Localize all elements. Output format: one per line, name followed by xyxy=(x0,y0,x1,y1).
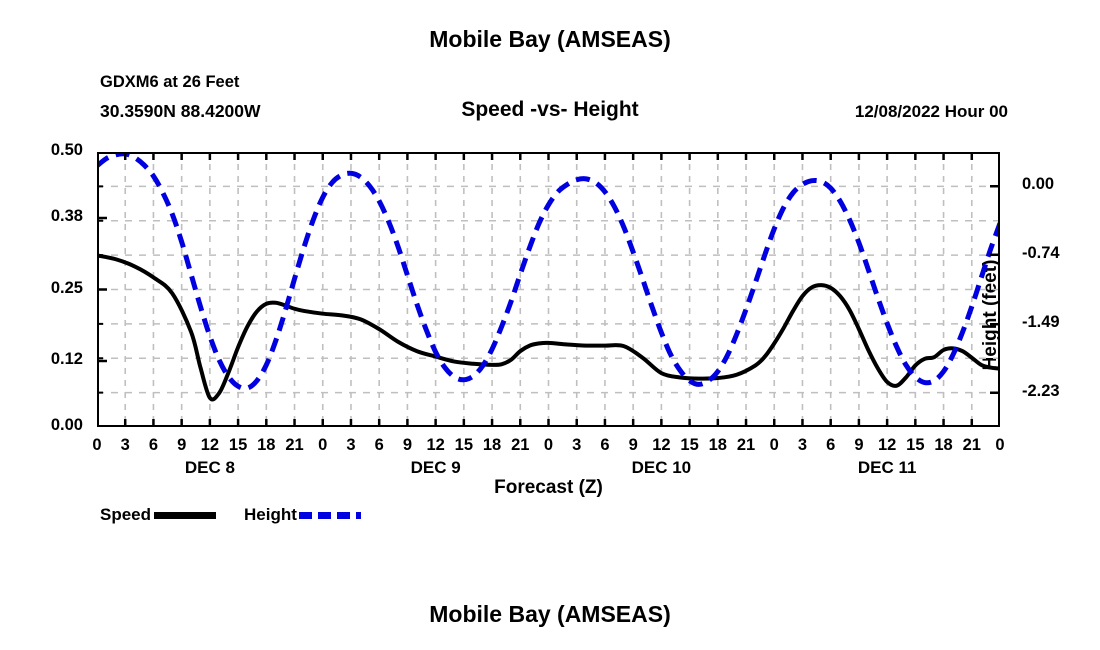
y-axis-left-tick-label: 0.50 xyxy=(51,141,83,160)
y-axis-left-tick-label: 0.12 xyxy=(51,350,83,369)
legend-item-height: Height xyxy=(244,505,361,525)
x-axis-tick-label: 6 xyxy=(138,436,168,455)
legend-label-speed: Speed xyxy=(100,505,151,525)
x-axis-day-label: DEC 9 xyxy=(366,458,506,478)
x-axis-tick-label: 21 xyxy=(731,436,761,455)
x-axis-tick-label: 15 xyxy=(675,436,705,455)
x-axis-tick-label: 18 xyxy=(929,436,959,455)
x-axis-tick-label: 0 xyxy=(985,436,1015,455)
x-axis-tick-label: 21 xyxy=(957,436,987,455)
x-axis-tick-label: 18 xyxy=(477,436,507,455)
x-axis-tick-label: 15 xyxy=(900,436,930,455)
x-axis-tick-label: 12 xyxy=(195,436,225,455)
x-axis-tick-label: 6 xyxy=(590,436,620,455)
x-axis-day-label: DEC 10 xyxy=(591,458,731,478)
x-axis-tick-label: 3 xyxy=(336,436,366,455)
chart-subtitle: Speed -vs- Height xyxy=(300,98,800,122)
x-axis-day-label: DEC 8 xyxy=(140,458,280,478)
legend-label-height: Height xyxy=(244,505,297,525)
y-axis-right-tick-label: 0.00 xyxy=(1022,175,1054,194)
model-run-timestamp: 12/08/2022 Hour 00 xyxy=(855,102,1008,122)
x-axis-tick-label: 12 xyxy=(421,436,451,455)
y-axis-right-tick-label: -0.74 xyxy=(1022,244,1060,263)
chart-title-top: Mobile Bay (AMSEAS) xyxy=(0,26,1100,53)
y-axis-right-tick-label: -1.49 xyxy=(1022,313,1060,332)
x-axis-title: Forecast (Z) xyxy=(97,477,1000,499)
legend-item-speed: Speed xyxy=(100,505,244,525)
x-axis-tick-label: 12 xyxy=(872,436,902,455)
station-info: GDXM6 at 26 Feet xyxy=(100,73,239,92)
gridlines xyxy=(97,152,1000,427)
x-axis-tick-label: 18 xyxy=(251,436,281,455)
x-axis-tick-label: 6 xyxy=(364,436,394,455)
x-axis-tick-label: 3 xyxy=(787,436,817,455)
x-axis-tick-label: 9 xyxy=(844,436,874,455)
y-axis-left-tick-label: 0.38 xyxy=(51,207,83,226)
chart-figure: Mobile Bay (AMSEAS) GDXM6 at 26 Feet 30.… xyxy=(0,0,1100,650)
y-axis-left-tick-label: 0.00 xyxy=(51,416,83,435)
x-axis-tick-label: 15 xyxy=(449,436,479,455)
x-axis-tick-label: 0 xyxy=(82,436,112,455)
legend-swatch-speed xyxy=(154,512,216,519)
x-axis-tick-label: 9 xyxy=(167,436,197,455)
y-axis-left-tick-label: 0.25 xyxy=(51,279,83,298)
x-axis-tick-label: 12 xyxy=(646,436,676,455)
chart-title-bottom: Mobile Bay (AMSEAS) xyxy=(0,601,1100,628)
x-axis-day-label: DEC 11 xyxy=(817,458,957,478)
x-axis-tick-label: 21 xyxy=(505,436,535,455)
plot-svg xyxy=(97,152,1000,427)
x-axis-tick-label: 6 xyxy=(816,436,846,455)
plot-area xyxy=(97,152,1000,427)
x-axis-tick-label: 3 xyxy=(562,436,592,455)
x-axis-tick-label: 15 xyxy=(223,436,253,455)
x-axis-tick-label: 18 xyxy=(703,436,733,455)
x-axis-tick-label: 9 xyxy=(392,436,422,455)
x-axis-tick-label: 21 xyxy=(280,436,310,455)
x-axis-tick-label: 0 xyxy=(534,436,564,455)
x-axis-tick-label: 3 xyxy=(110,436,140,455)
x-axis-tick-label: 9 xyxy=(618,436,648,455)
legend: Speed Height xyxy=(100,505,361,525)
x-axis-tick-label: 0 xyxy=(759,436,789,455)
station-coordinates: 30.3590N 88.4200W xyxy=(100,101,261,122)
legend-swatch-height xyxy=(299,512,361,519)
y-axis-right-tick-label: -2.23 xyxy=(1022,382,1060,401)
x-axis-tick-label: 0 xyxy=(308,436,338,455)
